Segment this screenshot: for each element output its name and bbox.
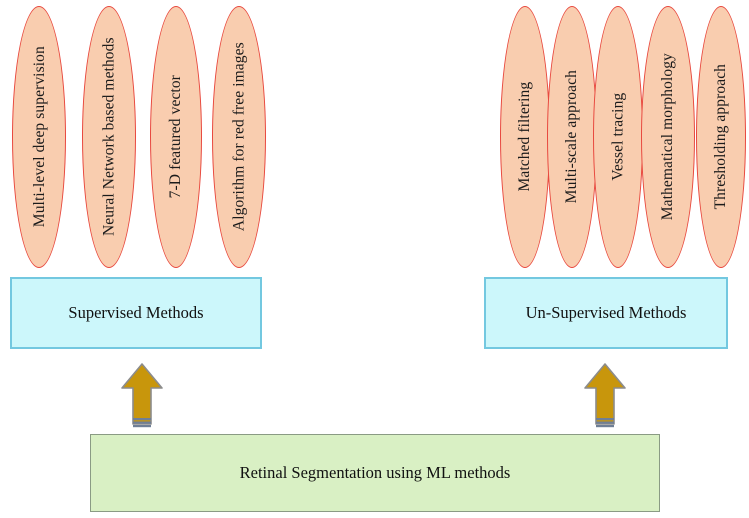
method-ellipse-7d-featured-vector[interactable]: 7-D featured vector: [150, 6, 202, 268]
category-box-label: Supervised Methods: [68, 303, 203, 323]
method-ellipse-label: 7-D featured vector: [167, 75, 184, 198]
diagram-canvas: Multi-level deep supervision Neural Netw…: [0, 0, 749, 518]
root-box-label: Retinal Segmentation using ML methods: [240, 463, 511, 483]
method-ellipse-mathematical-morphology[interactable]: Mathematical morphology: [641, 6, 695, 268]
method-ellipse-label: Multi-level deep supervision: [30, 46, 47, 227]
category-box-label: Un-Supervised Methods: [526, 303, 687, 323]
method-ellipse-label: Neural Network based methods: [100, 38, 117, 237]
up-arrow-supervised: [119, 362, 165, 432]
method-ellipse-label: Multi-scale approach: [563, 70, 580, 203]
method-ellipse-vessel-tracing[interactable]: Vessel tracing: [593, 6, 643, 268]
method-ellipse-algorithm-for-red-free-images[interactable]: Algorithm for red free images: [212, 6, 266, 268]
method-ellipse-label: Mathematical morphology: [659, 53, 676, 220]
root-box-retinal-segmentation[interactable]: Retinal Segmentation using ML methods: [90, 434, 660, 512]
method-ellipse-label: Matched filtering: [516, 82, 533, 192]
method-ellipse-thresholding-approach[interactable]: Thresholding approach: [696, 6, 746, 268]
method-ellipse-multi-scale-approach[interactable]: Multi-scale approach: [547, 6, 597, 268]
category-box-unsupervised-methods[interactable]: Un-Supervised Methods: [484, 277, 728, 349]
method-ellipse-multi-level-deep-supervision[interactable]: Multi-level deep supervision: [12, 6, 66, 268]
method-ellipse-neural-network-based-methods[interactable]: Neural Network based methods: [82, 6, 136, 268]
up-arrow-unsupervised: [582, 362, 628, 432]
category-box-supervised-methods[interactable]: Supervised Methods: [10, 277, 262, 349]
method-ellipse-label: Thresholding approach: [712, 64, 729, 209]
method-ellipse-label: Vessel tracing: [609, 93, 626, 181]
method-ellipse-label: Algorithm for red free images: [230, 43, 247, 232]
method-ellipse-matched-filtering[interactable]: Matched filtering: [500, 6, 550, 268]
